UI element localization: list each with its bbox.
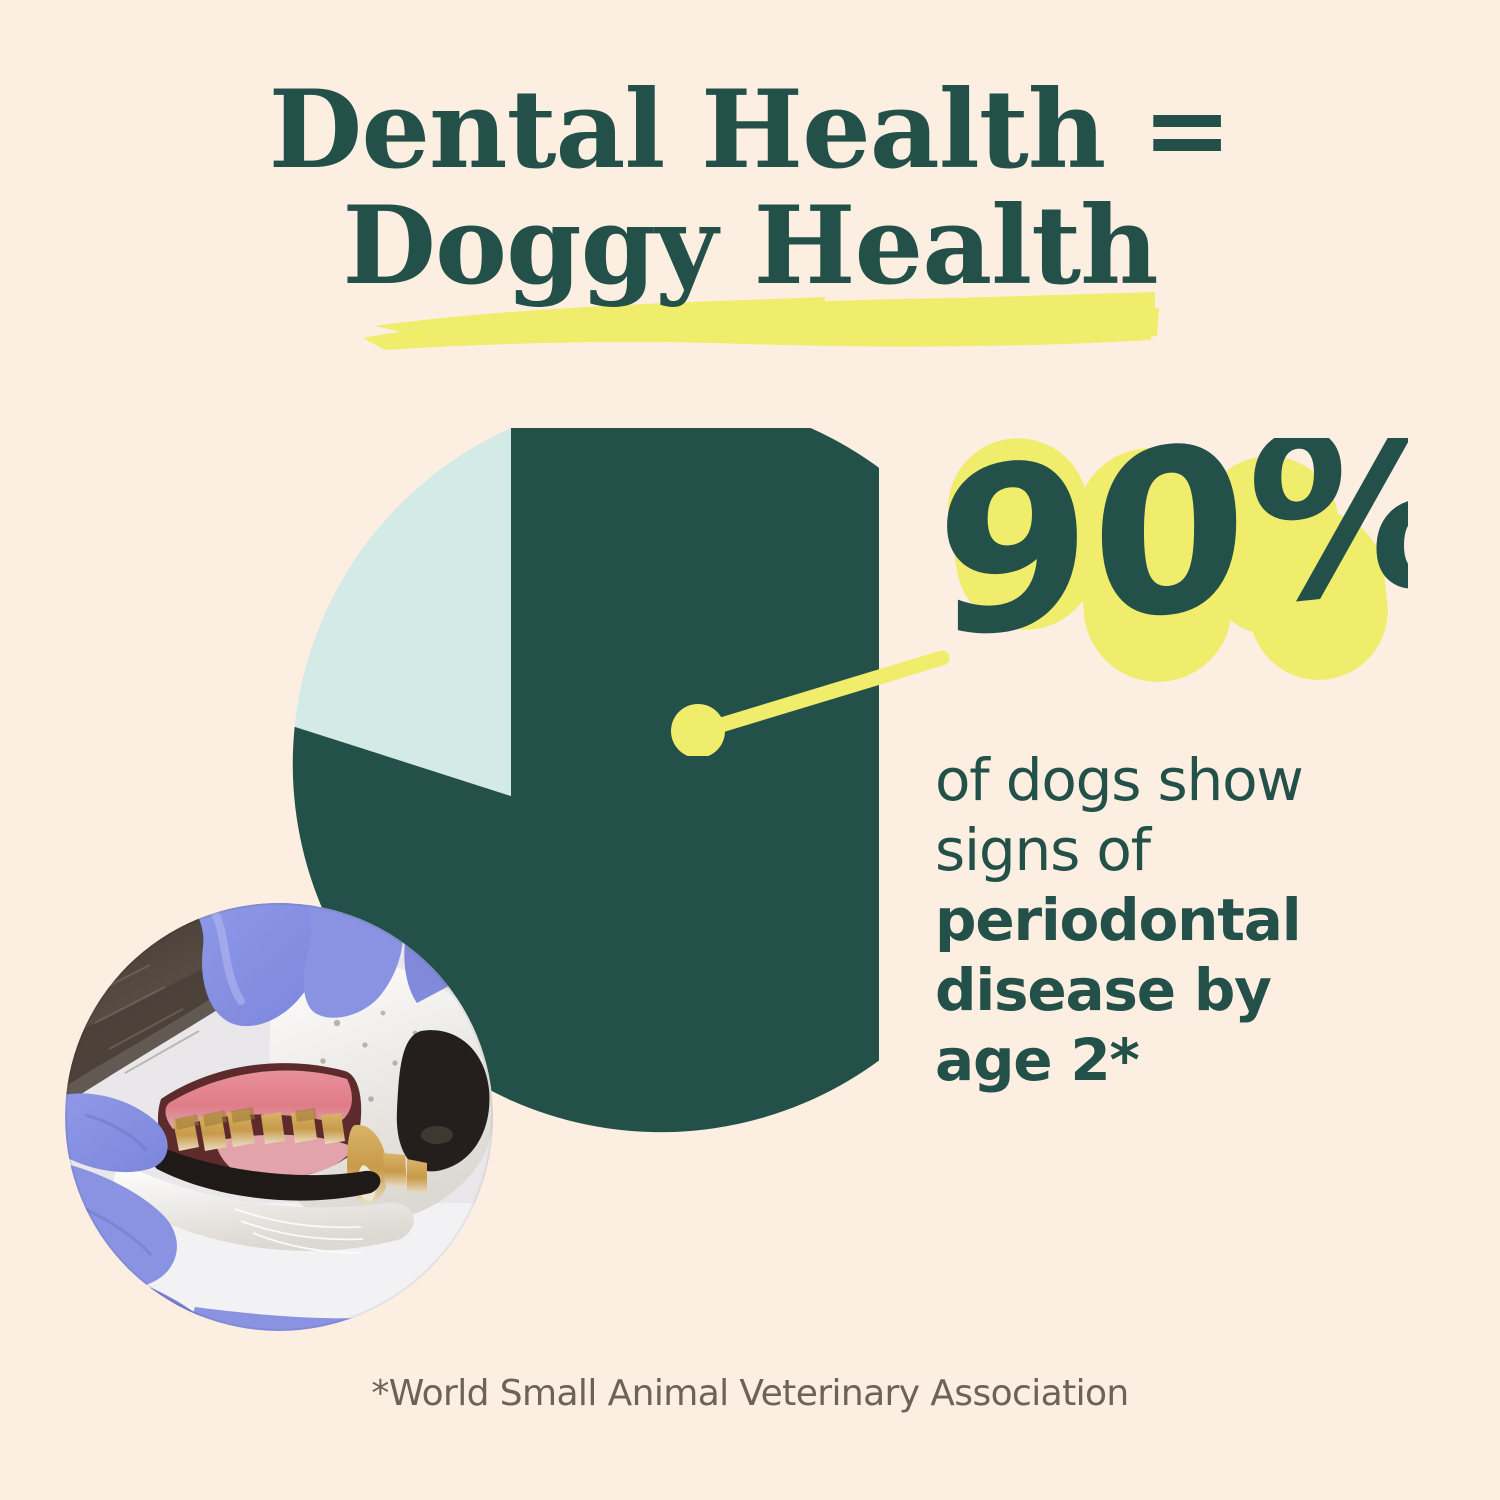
copy-line-5: age 2* <box>935 1025 1435 1095</box>
footnote-text: *World Small Animal Veterinary Associati… <box>371 1373 1128 1414</box>
copy-line-2: signs of <box>935 815 1435 885</box>
title-line-1: Dental Health = <box>0 72 1500 188</box>
stat-percent-block: 90% <box>930 430 1450 700</box>
copy-line-3: periodontal <box>935 885 1435 955</box>
title-line-2: Doggy Health <box>0 188 1500 304</box>
page-title: Dental Health = Doggy Health <box>0 72 1500 304</box>
dog-dental-exam-photo-svg <box>65 903 493 1331</box>
footnote: *World Small Animal Veterinary Associati… <box>0 1372 1500 1416</box>
copy-line-1: of dogs show <box>935 745 1435 815</box>
stat-percent-text: 90% <box>938 438 1408 688</box>
stat-description: of dogs show signs of periodontal diseas… <box>935 745 1435 1095</box>
copy-line-4: disease by <box>935 955 1435 1025</box>
dog-dental-exam-photo <box>65 903 493 1331</box>
infographic-canvas: Dental Health = Doggy Health <box>0 0 1500 1500</box>
stat-percent-value: 90% <box>938 438 1408 688</box>
